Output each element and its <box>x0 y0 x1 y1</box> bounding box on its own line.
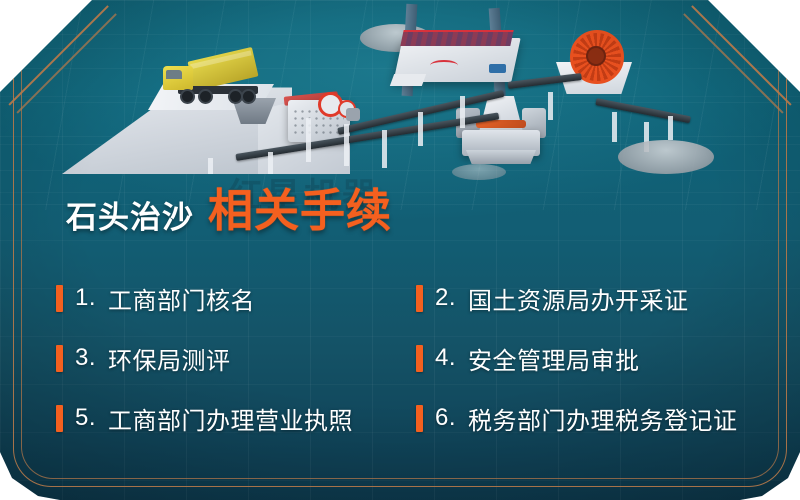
list-item-label: 税务部门办理税务登记证 <box>468 401 738 436</box>
list-item-number: 6. <box>435 404 456 432</box>
page-title-primary: 石头治沙 <box>66 202 194 233</box>
list-item: 4. 安全管理局审批 <box>416 328 756 388</box>
list-item: 6. 税务部门办理税务登记证 <box>416 388 756 448</box>
poster-card: 红星机器 石头治沙 相关手续 1. 工商部门核名 2. 国土资源局办开采证 3.… <box>0 0 800 500</box>
page-title: 石头治沙 相关手续 <box>66 190 392 233</box>
list-item: 5. 工商部门办理营业执照 <box>56 388 416 448</box>
poster-card-inner: 红星机器 石头治沙 相关手续 1. 工商部门核名 2. 国土资源局办开采证 3.… <box>0 0 800 500</box>
bullet-marker-icon <box>416 285 423 312</box>
bullet-marker-icon <box>416 345 423 372</box>
list-item-label: 工商部门核名 <box>108 281 255 316</box>
list-item: 2. 国土资源局办开采证 <box>416 268 756 328</box>
list-item-number: 5. <box>75 404 96 432</box>
bullet-marker-icon <box>56 285 63 312</box>
list-item: 3. 环保局测评 <box>56 328 416 388</box>
bullet-marker-icon <box>416 405 423 432</box>
list-item-label: 环保局测评 <box>108 341 231 376</box>
bullet-marker-icon <box>56 345 63 372</box>
list-item-number: 4. <box>435 344 456 372</box>
bullet-marker-icon <box>56 405 63 432</box>
list-item-number: 2. <box>435 284 456 312</box>
list-item-label: 国土资源局办开采证 <box>468 281 689 316</box>
page-title-accent: 相关手续 <box>208 190 392 233</box>
list-item-label: 工商部门办理营业执照 <box>108 401 353 436</box>
list-item: 1. 工商部门核名 <box>56 268 416 328</box>
procedure-list: 1. 工商部门核名 2. 国土资源局办开采证 3. 环保局测评 4. 安全管理局… <box>56 268 756 448</box>
list-item-label: 安全管理局审批 <box>468 341 640 376</box>
list-item-number: 3. <box>75 344 96 372</box>
list-item-number: 1. <box>75 284 96 312</box>
